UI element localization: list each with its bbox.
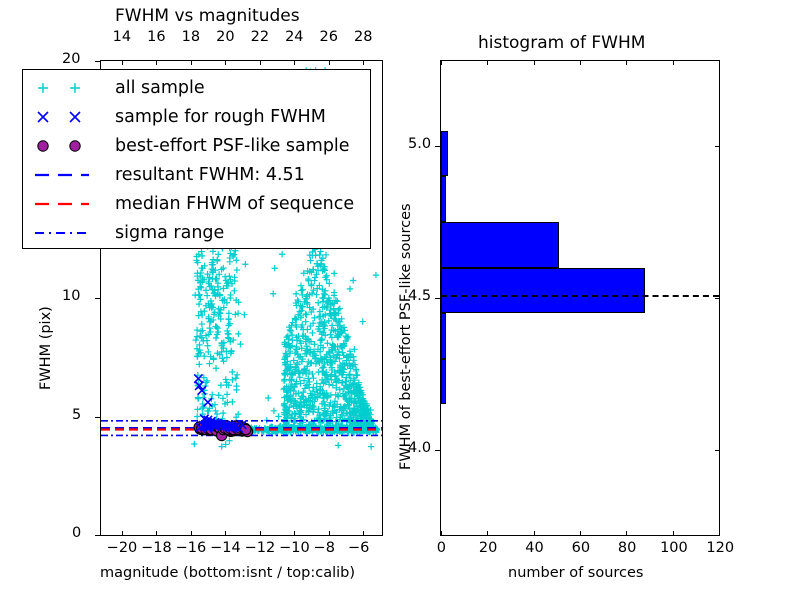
left-bottom-tick--18: −18	[141, 540, 172, 556]
right-x-tick-60: 60	[572, 540, 590, 556]
right-x-tick-80: 80	[618, 540, 636, 556]
left-bottom-tick--8: −8	[314, 540, 335, 556]
left-bottom-tick--10: −10	[279, 540, 310, 556]
left-y-tick-20: 20	[62, 51, 80, 67]
left-top-tickmark	[191, 60, 192, 65]
right-y-tickmark	[435, 146, 440, 147]
left-top-tickmark	[156, 60, 157, 65]
left-bottom-tick--16: −16	[176, 540, 207, 556]
right-x-tick-0: 0	[437, 540, 446, 556]
legend-dashed-line-icon	[23, 160, 109, 190]
legend-label: resultant FWHM: 4.51	[115, 160, 305, 190]
figure-canvas: FWHM vs magnitudes 1416182022242628 −20−…	[0, 0, 800, 600]
left-bottom-tick--20: −20	[107, 540, 138, 556]
legend-label: sigma range	[115, 218, 224, 248]
right-panel-xlabel: number of sources	[508, 565, 644, 581]
right-panel-ylabel: FWHM of best-effort PSF-like sources	[398, 203, 414, 470]
right-x-tickmark	[673, 531, 674, 536]
legend-plus-icon	[23, 73, 109, 103]
left-top-tickmark	[260, 60, 261, 65]
left-top-tickmark	[329, 60, 330, 65]
legend-dashed-line-icon	[23, 189, 109, 219]
left-bottom-tick--14: −14	[210, 540, 241, 556]
left-bottom-tickmark	[156, 531, 157, 536]
left-bottom-tick--6: −6	[348, 540, 369, 556]
left-top-tickmark	[363, 60, 364, 65]
left-y-tickmark	[95, 61, 100, 62]
legend-item-0[interactable]: all sample	[23, 73, 370, 103]
legend-item-5[interactable]: sigma range	[23, 218, 370, 248]
left-panel-xlabel: magnitude (bottom:isnt / top:calib)	[100, 565, 355, 581]
histogram-bar	[441, 131, 448, 177]
legend-item-1[interactable]: sample for rough FWHM	[23, 102, 370, 132]
left-top-tick-24: 24	[285, 29, 303, 45]
left-top-tickmark	[294, 60, 295, 65]
histogram-bar	[441, 176, 446, 222]
right-x-tick-100: 100	[660, 540, 688, 556]
histogram-bar	[441, 313, 446, 359]
right-y-tickmark	[435, 298, 440, 299]
left-y-tickmark	[95, 535, 100, 536]
legend-label: best-effort PSF-like sample	[115, 131, 350, 161]
legend-label: sample for rough FWHM	[115, 102, 326, 132]
left-y-tickmark	[95, 298, 100, 299]
left-top-tickmark	[122, 60, 123, 65]
legend-item-4[interactable]: median FHWM of sequence	[23, 189, 370, 219]
legend[interactable]: all samplesample for rough FWHMbest-effo…	[22, 69, 371, 249]
legend-item-3[interactable]: resultant FWHM: 4.51	[23, 160, 370, 190]
legend-label: all sample	[115, 73, 205, 103]
left-top-tick-26: 26	[320, 29, 338, 45]
left-top-tick-16: 16	[147, 29, 165, 45]
legend-label: median FHWM of sequence	[115, 189, 354, 219]
left-top-tick-18: 18	[182, 29, 200, 45]
left-y-tick-5: 5	[72, 407, 81, 423]
right-x-tickmark-top	[673, 60, 674, 65]
right-panel-title: histogram of FWHM	[478, 33, 645, 53]
right-y-tickmark-right	[715, 146, 720, 147]
right-y-tickmark-right	[715, 450, 720, 451]
right-x-tick-20: 20	[479, 540, 497, 556]
left-y-tick-0: 0	[72, 525, 81, 541]
legend-item-2[interactable]: best-effort PSF-like sample	[23, 131, 370, 161]
left-panel-ylabel: FWHM (pix)	[38, 306, 54, 390]
right-x-tickmark-top	[719, 60, 720, 65]
right-x-tickmark	[580, 531, 581, 536]
left-top-tick-22: 22	[251, 29, 269, 45]
histogram-bar	[441, 222, 559, 268]
left-top-tick-14: 14	[113, 29, 131, 45]
right-x-tickmark	[441, 531, 442, 536]
right-y-tickmark	[435, 450, 440, 451]
histogram-bar	[441, 268, 645, 314]
left-bottom-tickmark	[363, 531, 364, 536]
right-y-tickmark-right	[715, 298, 720, 299]
resultant-fwhm-line	[441, 295, 719, 297]
right-y-tick-5.0: 5.0	[408, 136, 431, 152]
right-x-tickmark-top	[441, 60, 442, 65]
left-bottom-tickmark	[260, 531, 261, 536]
right-x-tick-120: 120	[706, 540, 734, 556]
legend-dashdot-line-icon	[23, 218, 109, 248]
right-x-tickmark-top	[626, 60, 627, 65]
right-x-tickmark-top	[487, 60, 488, 65]
histogram-bar	[441, 359, 446, 405]
left-bottom-tickmark	[122, 531, 123, 536]
right-x-tickmark	[487, 531, 488, 536]
left-y-tickmark	[95, 417, 100, 418]
right-x-tickmark-top	[580, 60, 581, 65]
right-x-tick-40: 40	[525, 540, 543, 556]
left-bottom-tickmark	[191, 531, 192, 536]
left-top-tick-20: 20	[216, 29, 234, 45]
left-top-tick-28: 28	[354, 29, 372, 45]
left-bottom-tickmark	[225, 531, 226, 536]
left-y-tick-10: 10	[62, 288, 80, 304]
right-x-tickmark	[719, 531, 720, 536]
right-x-tickmark	[534, 531, 535, 536]
left-top-tickmark	[225, 60, 226, 65]
histogram-panel[interactable]	[440, 60, 720, 536]
left-bottom-tick--12: −12	[245, 540, 276, 556]
left-bottom-tickmark	[329, 531, 330, 536]
left-panel-title: FWHM vs magnitudes	[115, 6, 300, 26]
right-x-tickmark-top	[534, 60, 535, 65]
legend-circle-icon	[23, 131, 109, 161]
left-bottom-tickmark	[294, 531, 295, 536]
right-x-tickmark	[626, 531, 627, 536]
legend-cross-icon	[23, 102, 109, 132]
